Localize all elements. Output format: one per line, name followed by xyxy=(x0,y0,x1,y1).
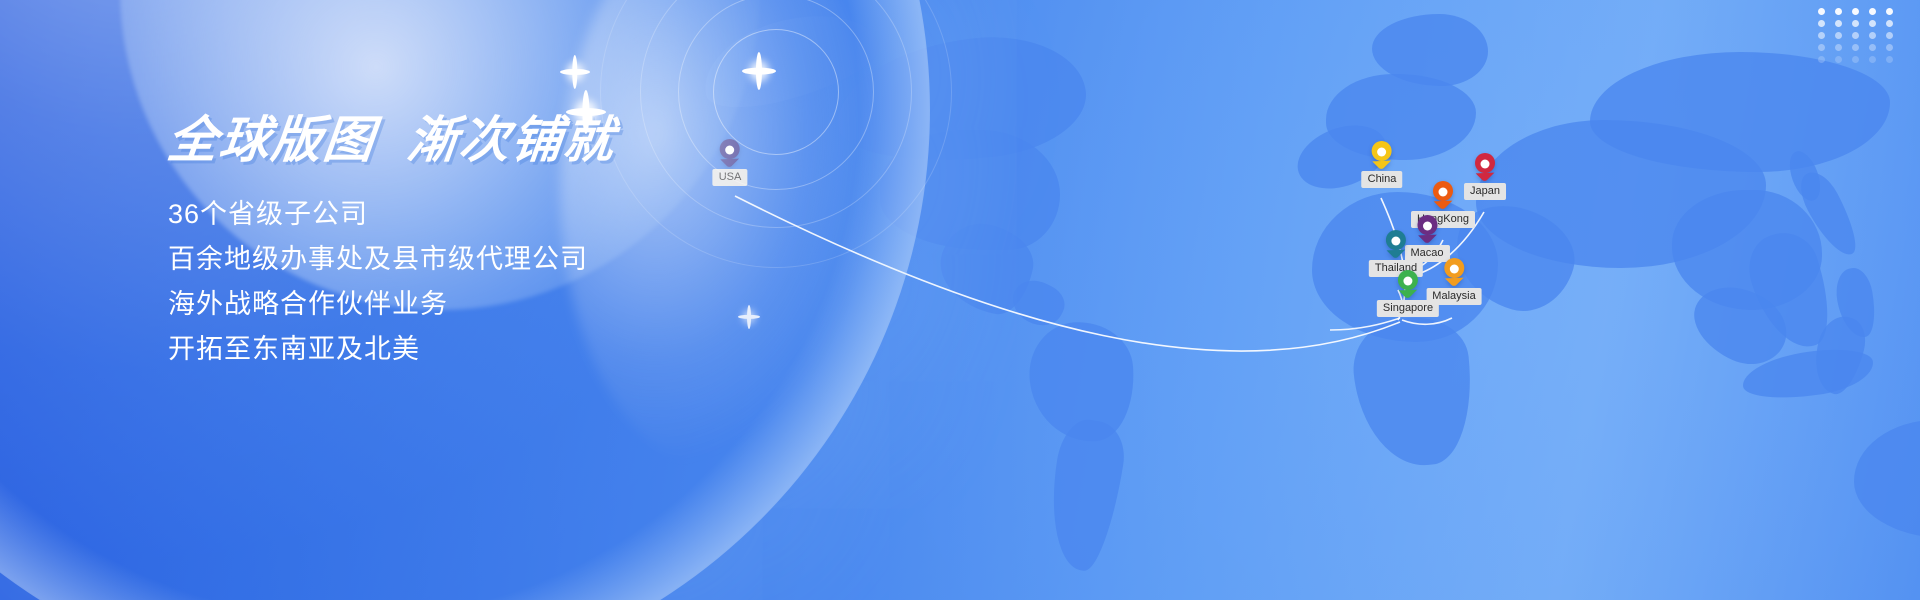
map-pin-icon xyxy=(1372,141,1392,168)
highlight-item-3: 海外战略合作伙伴业务 xyxy=(168,282,928,327)
map-marker-label: Singapore xyxy=(1377,300,1439,317)
map-pin-icon xyxy=(1433,181,1453,208)
dot-grid-pattern xyxy=(1818,8,1898,63)
highlight-item-4: 开拓至东南亚及北美 xyxy=(168,327,928,372)
page-title: 全球版图渐次铺就 xyxy=(164,100,620,172)
headline-part-2: 渐次铺就 xyxy=(405,112,619,168)
map-marker-china[interactable]: China xyxy=(1362,141,1403,188)
highlight-list: 36个省级子公司 百余地级办事处及县市级代理公司 海外战略合作伙伴业务 开拓至东… xyxy=(168,192,928,372)
map-pin-icon xyxy=(1398,270,1418,297)
map-pin-icon xyxy=(1444,258,1464,285)
banner-copy: 全球版图渐次铺就 36个省级子公司 百余地级办事处及县市级代理公司 海外战略合作… xyxy=(168,100,928,372)
map-pin-icon xyxy=(1386,230,1406,257)
map-pin-icon xyxy=(1475,153,1495,180)
map-marker-label: China xyxy=(1362,171,1403,188)
headline-part-1: 全球版图 xyxy=(165,112,379,168)
highlight-item-1: 36个省级子公司 xyxy=(168,192,928,237)
global-map-banner: USAChinaJapanHongKongMacaoThailandMalays… xyxy=(0,0,1920,600)
highlight-item-2: 百余地级办事处及县市级代理公司 xyxy=(168,237,928,282)
map-marker-singapore[interactable]: Singapore xyxy=(1377,270,1439,317)
